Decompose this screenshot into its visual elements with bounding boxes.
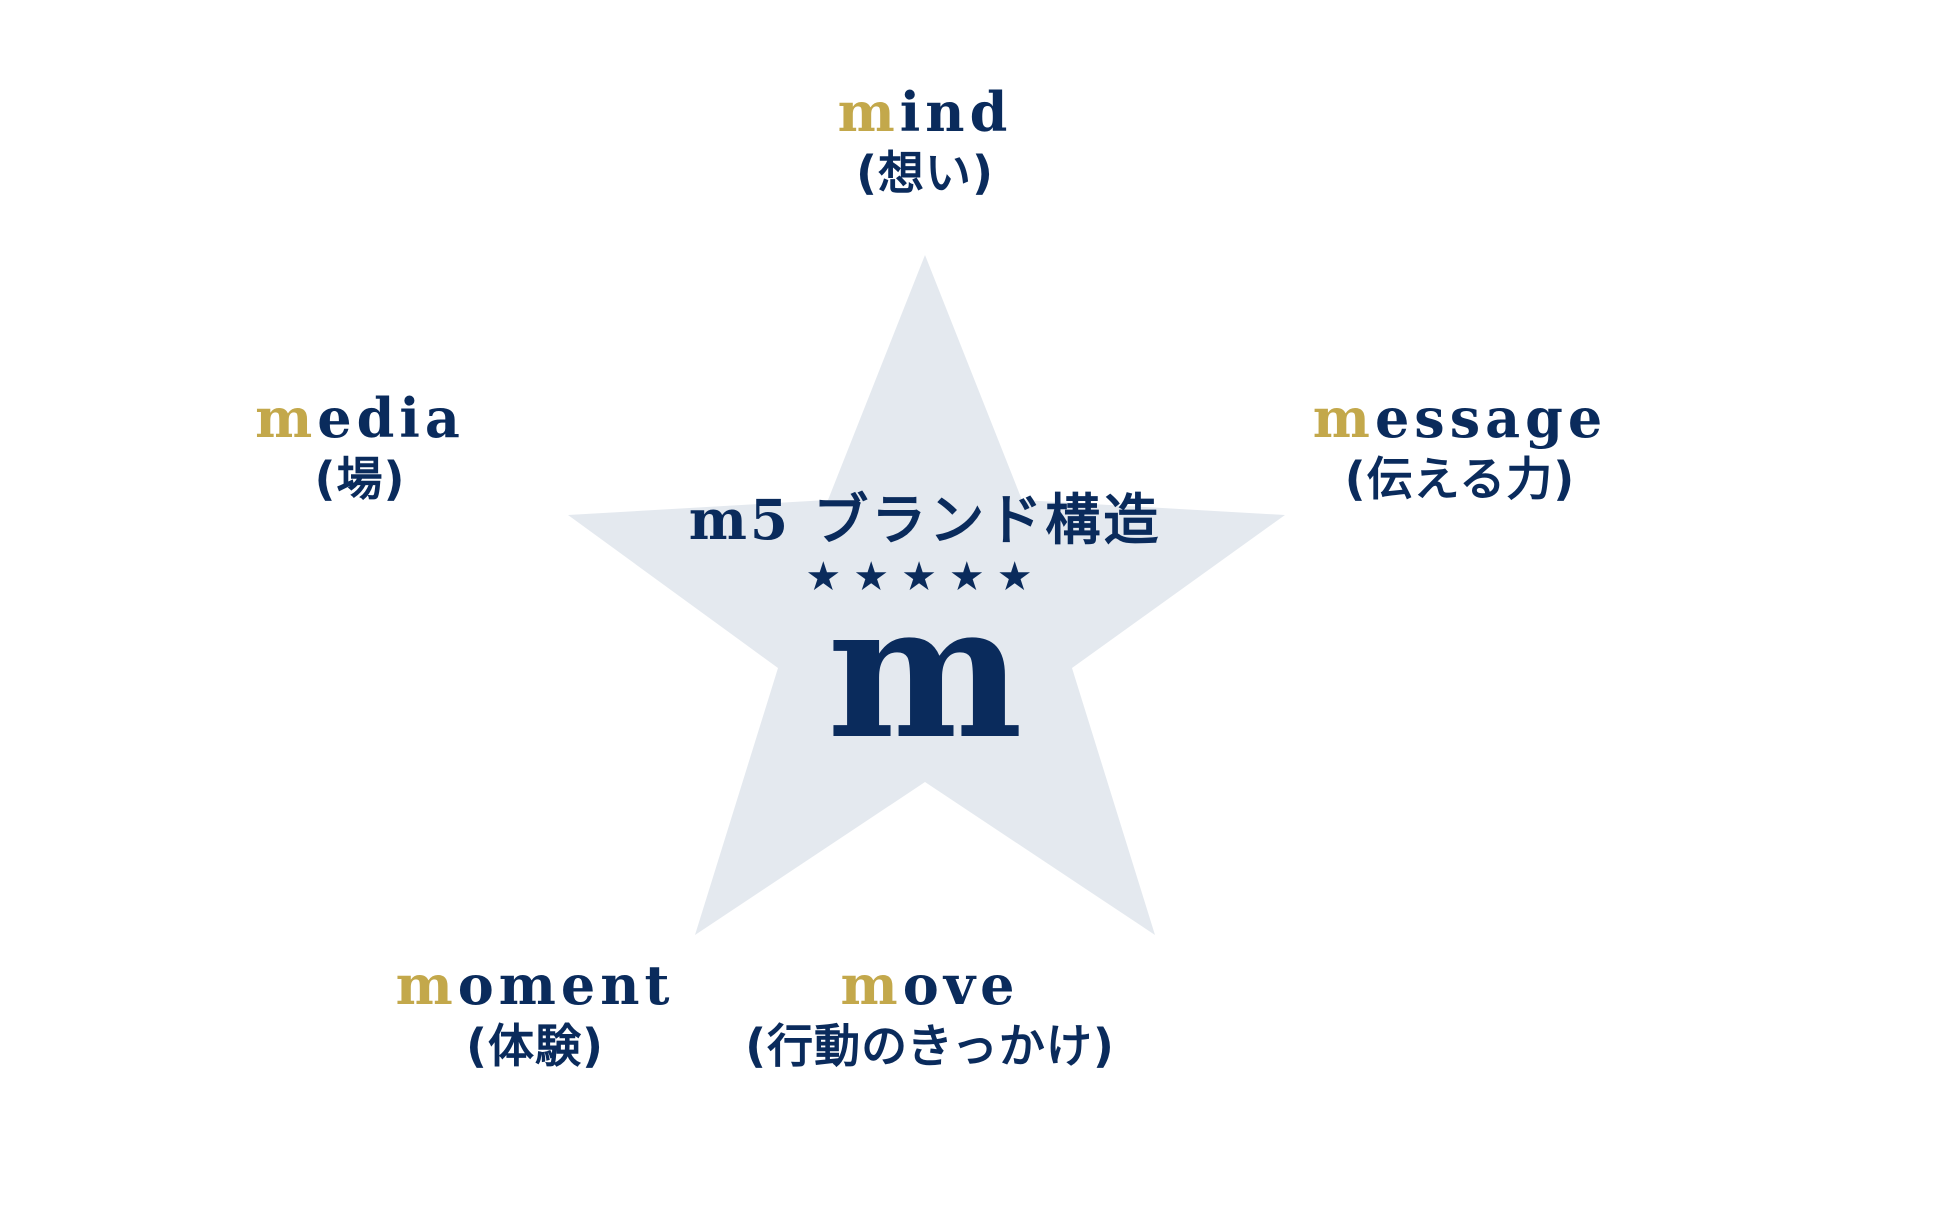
pillar-mind-japanese: (想い): [545, 146, 1305, 201]
pillar-media-rest: edia: [317, 386, 465, 450]
pillar-media-english: media: [0, 388, 740, 448]
pillar-message-rest: essage: [1375, 386, 1607, 450]
pillar-media-japanese: (場): [0, 452, 740, 507]
pillar-moment-lead-letter: m: [396, 953, 458, 1017]
pillar-message-japanese: (伝える力): [1080, 452, 1840, 507]
pillar-message-english: message: [1080, 388, 1840, 448]
pillar-mind[interactable]: mind (想い): [545, 82, 1305, 202]
pillar-move-japanese: (行動のきっかけ): [550, 1019, 1310, 1074]
pillar-media[interactable]: media (場): [0, 388, 740, 508]
pillar-mind-rest: ind: [900, 80, 1013, 144]
pillar-move-english: move: [550, 955, 1310, 1015]
pillar-message[interactable]: message (伝える力): [1080, 388, 1840, 508]
pillar-media-lead-letter: m: [255, 386, 317, 450]
pillar-mind-lead-letter: m: [838, 80, 900, 144]
brand-diagram-canvas: m5 ブランド構造 ★★★★★ m mind (想い) media (場) me…: [0, 0, 1940, 1214]
pillar-move-lead-letter: m: [841, 953, 903, 1017]
pillar-mind-english: mind: [545, 82, 1305, 142]
pillar-move-rest: ove: [903, 953, 1020, 1017]
pillar-move[interactable]: move (行動のきっかけ): [550, 955, 1310, 1075]
center-brand-block: m5 ブランド構造 ★★★★★ m: [560, 492, 1290, 743]
brand-mark-logo: m: [560, 599, 1290, 743]
pillar-message-lead-letter: m: [1313, 386, 1375, 450]
